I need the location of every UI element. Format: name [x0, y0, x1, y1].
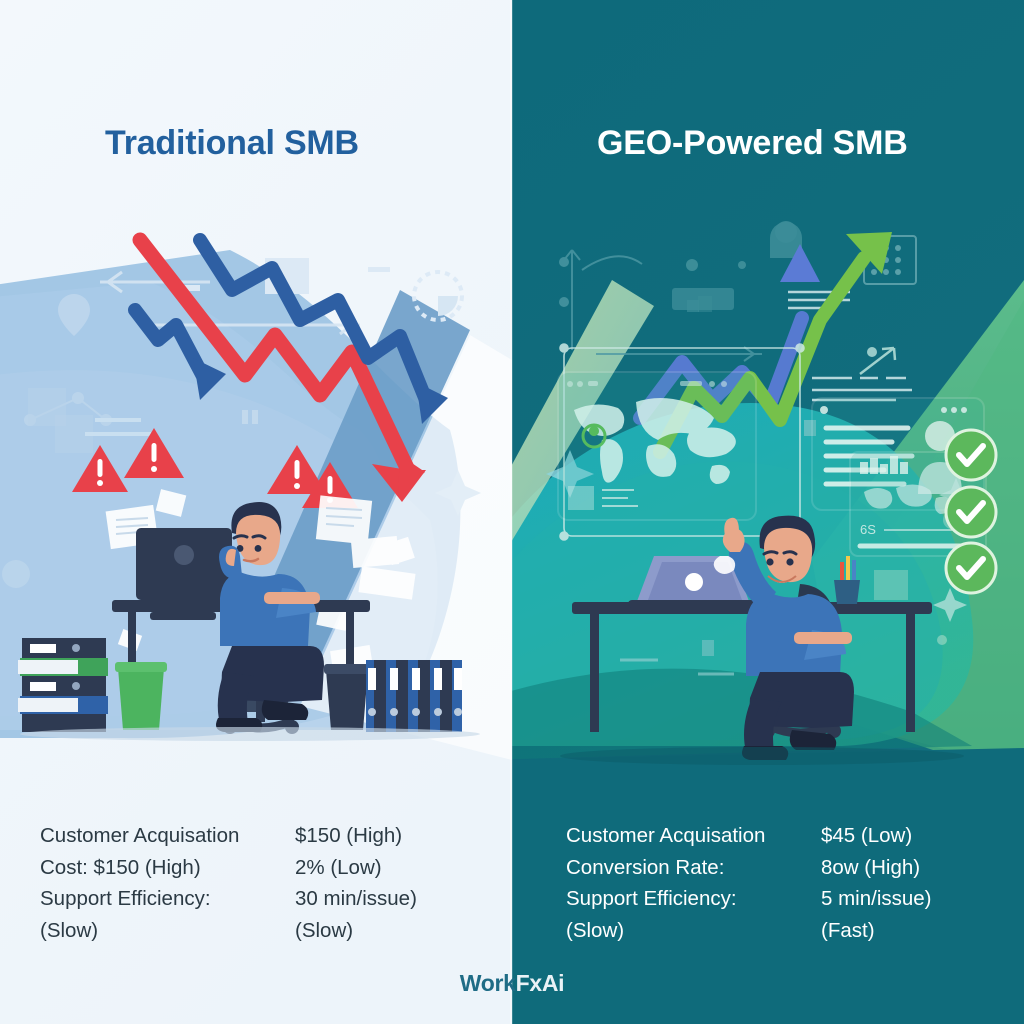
right-stats-labels: Customer Acquisation Conversion Rate: Su…	[566, 820, 821, 946]
stat-value: 30 min/issue)	[295, 883, 495, 915]
stat-value: $150 (High)	[295, 820, 495, 852]
brand-logo-work: Work	[460, 970, 516, 996]
stat-value: (Slow)	[295, 915, 495, 947]
comparison-infographic: Traditional SMB Customer Acquisation Cos…	[0, 0, 1024, 1024]
binder-stack-icon	[366, 660, 462, 732]
left-stats-block: Customer Acquisation Cost: $150 (High) S…	[40, 820, 495, 946]
stat-label: Customer Acquisation	[566, 820, 821, 852]
stat-value: 2% (Low)	[295, 852, 495, 884]
stat-label: (Slow)	[566, 915, 821, 947]
stat-label: Support Efficiency:	[40, 883, 295, 915]
stat-value: $45 (Low)	[821, 820, 1021, 852]
panel-traditional-smb: Traditional SMB Customer Acquisation Cos…	[0, 0, 512, 1024]
stat-value: 8ow (High)	[821, 852, 1021, 884]
stat-label: Support Efficiency:	[566, 883, 821, 915]
binder-stack-icon	[18, 638, 108, 732]
check-circle-icon	[946, 487, 996, 537]
stat-label: Cost: $150 (High)	[40, 852, 295, 884]
svg-text:6S: 6S	[860, 522, 876, 537]
stat-label: (Slow)	[40, 915, 295, 947]
left-stats-values: $150 (High) 2% (Low) 30 min/issue) (Slow…	[295, 820, 495, 946]
check-circle-icon	[946, 430, 996, 480]
left-panel-title: Traditional SMB	[105, 124, 359, 163]
stat-value: (Fast)	[821, 915, 1021, 947]
check-circle-icon	[946, 543, 996, 593]
right-stats-block: Customer Acquisation Conversion Rate: Su…	[566, 820, 1021, 946]
panel-divider	[510, 0, 513, 1024]
stat-value: 5 min/issue)	[821, 883, 1021, 915]
stat-label: Customer Acquisation	[40, 820, 295, 852]
right-panel-title: GEO-Powered SMB	[597, 124, 908, 163]
panel-geo-powered-smb: 6S	[512, 0, 1024, 1024]
stat-label: Conversion Rate:	[566, 852, 821, 884]
brand-logo: WorkFxAi	[0, 970, 1024, 997]
left-stats-labels: Customer Acquisation Cost: $150 (High) S…	[40, 820, 295, 946]
brand-logo-fxai: FxAi	[516, 970, 565, 996]
right-stats-values: $45 (Low) 8ow (High) 5 min/issue) (Fast)	[821, 820, 1021, 946]
